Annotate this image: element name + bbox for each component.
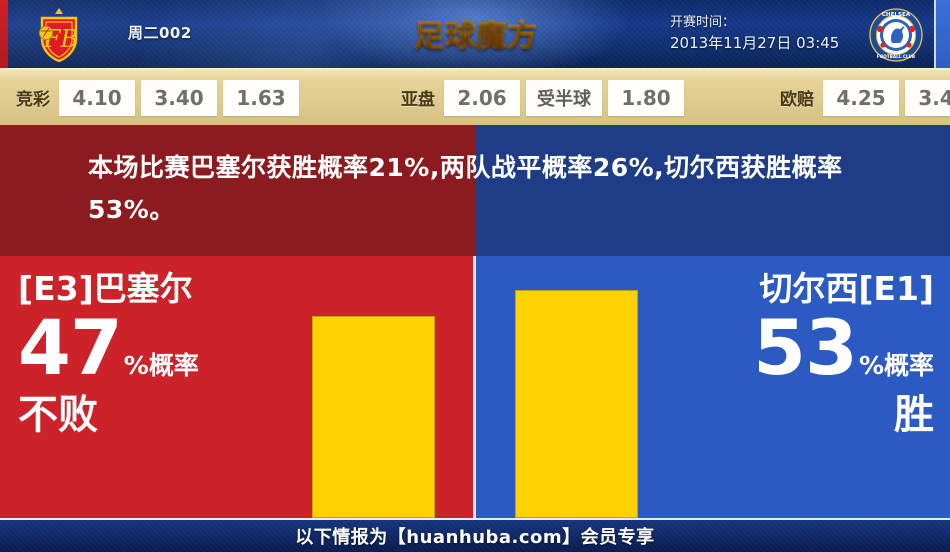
match-probability-graphic: FB 周二002 足球魔方 开赛时间： 2013年11月27日 03:45 CH… [0,0,950,552]
panel-divider [473,256,476,518]
home-stats: [E3]巴塞尔 47 %概率 不败 [18,270,278,438]
home-verdict: 不败 [18,392,278,438]
svg-text:FOOTBALL CLUB: FOOTBALL CLUB [877,54,915,59]
odds-cell[interactable]: 1.63 [223,80,299,116]
basel-crest-icon: FB [30,6,88,64]
away-probability-bar [515,290,638,518]
chelsea-crest-icon: CHELSEA FOOTBALL CLUB [868,7,924,63]
odds-cell[interactable]: 2.06 [444,80,520,116]
svg-text:CHELSEA: CHELSEA [882,12,911,18]
odds-group-label: 亚盘 [401,85,435,110]
away-stats: 切尔西[E1] 53 %概率 胜 [652,270,934,438]
odds-cell-handicap[interactable]: 受半球 [526,80,602,116]
odds-cell[interactable]: 4.10 [59,80,135,116]
footer-text: 以下情报为【huanhuba.com】会员专享 [295,523,654,549]
odds-group-jingcai: 竞彩 4.10 3.40 1.63 [16,70,305,125]
summary-banner: 本场比赛巴塞尔获胜概率21%,两队战平概率26%,切尔西获胜概率53%。 [0,125,950,256]
away-percent-row: 53 %概率 [652,310,934,386]
odds-cell[interactable]: 3.46 [905,80,950,116]
match-number: 周二002 [128,22,192,43]
home-percent-row: 47 %概率 [18,310,278,386]
probability-chart: [E3]巴塞尔 47 %概率 不败 切尔西[E1] 53 %概率 胜 [0,256,950,518]
odds-cell[interactable]: 3.40 [141,80,217,116]
odds-group-label: 欧赔 [780,85,814,110]
odds-cell[interactable]: 1.80 [608,80,684,116]
kickoff-block: 开赛时间： 2013年11月27日 03:45 [670,12,839,54]
odds-bar: 竞彩 4.10 3.40 1.63 亚盘 2.06 受半球 1.80 欧赔 4.… [0,68,950,125]
away-verdict: 胜 [652,392,934,438]
home-percent-value: 47 [18,310,122,386]
header-left-red-strip [0,0,8,68]
kickoff-label: 开赛时间： [670,12,839,33]
home-percent-suffix: %概率 [122,353,199,386]
away-percent-value: 53 [753,310,857,386]
home-probability-bar [312,316,435,518]
header-bar: FB 周二002 足球魔方 开赛时间： 2013年11月27日 03:45 CH… [0,0,950,68]
brand-logo: 足球魔方 [400,8,552,58]
brand-logo-text: 足球魔方 [414,11,538,55]
kickoff-value: 2013年11月27日 03:45 [670,33,839,54]
footer-bar: 以下情报为【huanhuba.com】会员专享 [0,518,950,552]
away-percent-suffix: %概率 [857,353,934,386]
odds-cell[interactable]: 4.25 [823,80,899,116]
odds-group-oupei: 欧赔 4.25 3.46 1.84 [780,70,950,125]
header-right-blue-strip [934,0,950,68]
summary-text: 本场比赛巴塞尔获胜概率21%,两队战平概率26%,切尔西获胜概率53%。 [88,147,888,231]
odds-group-yapan: 亚盘 2.06 受半球 1.80 [401,70,690,125]
odds-group-label: 竞彩 [16,85,50,110]
